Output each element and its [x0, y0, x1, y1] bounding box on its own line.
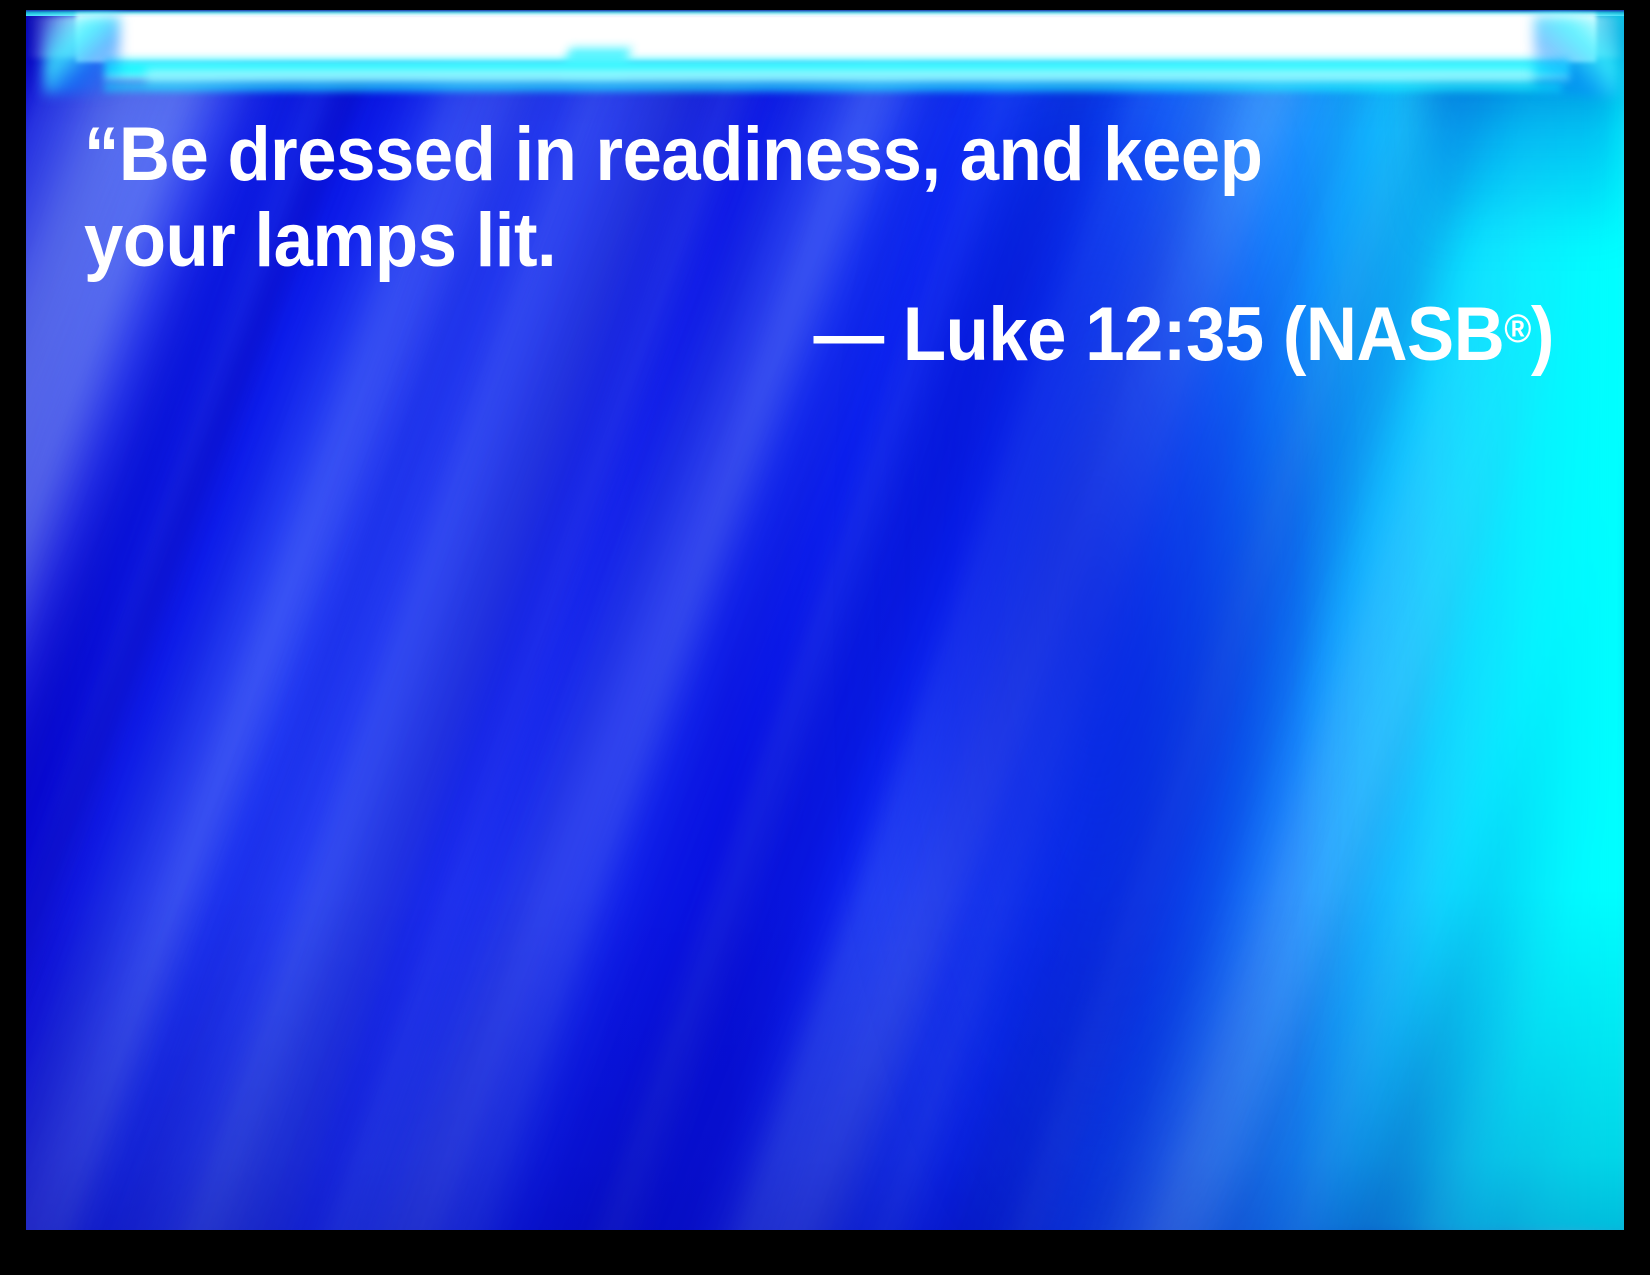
verse-citation: — Luke 12:35 (NASB®)	[187, 292, 1554, 378]
slide-canvas: “Be dressed in readiness, and keep your …	[26, 10, 1624, 1230]
verse-text: “Be dressed in readiness, and keep your …	[84, 112, 1386, 284]
citation-closing-paren: )	[1531, 292, 1554, 377]
registered-trademark-icon: ®	[1504, 307, 1531, 351]
text-layer: “Be dressed in readiness, and keep your …	[26, 10, 1624, 1230]
presentation-slide: “Be dressed in readiness, and keep your …	[0, 0, 1650, 1275]
citation-reference: — Luke 12:35 (NASB	[814, 292, 1505, 377]
